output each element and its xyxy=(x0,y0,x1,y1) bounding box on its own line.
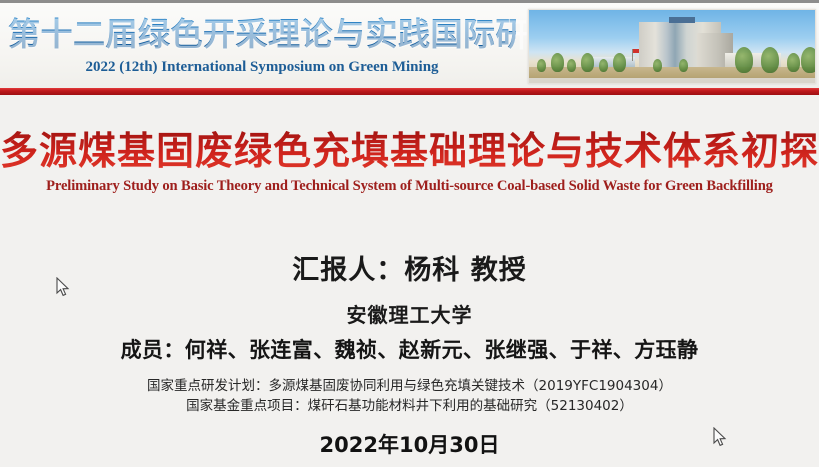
funding-block: 国家重点研发计划：多源煤基固废协同利用与绿色充填关键技术（2019YFC1904… xyxy=(0,376,819,416)
conference-header-text-block: 第十二届绿色开采理论与实践国际研讨会 2022 (12th) Internati… xyxy=(0,3,520,91)
slide-body: 多源煤基固废绿色充填基础理论与技术体系初探 Preliminary Study … xyxy=(0,95,819,467)
photo-tree xyxy=(761,47,779,73)
campus-banner-photo xyxy=(528,9,816,84)
conference-header-banner: 第十二届绿色开采理论与实践国际研讨会 2022 (12th) Internati… xyxy=(0,3,819,93)
photo-tree xyxy=(653,59,662,72)
photo-tree xyxy=(613,53,626,72)
conference-title-chinese: 第十二届绿色开采理论与实践国际研讨会 xyxy=(8,15,516,53)
photo-tree xyxy=(581,53,594,72)
header-red-divider xyxy=(0,88,819,95)
photo-tree xyxy=(735,47,753,73)
photo-tree xyxy=(567,59,576,72)
photo-tree xyxy=(801,47,816,73)
presentation-slide: 第十二届绿色开采理论与实践国际研讨会 2022 (12th) Internati… xyxy=(0,0,819,467)
presenter-line: 汇报人：杨科 教授 xyxy=(0,248,819,287)
photo-tree xyxy=(537,59,546,72)
team-members-line: 成员：何祥、张连富、魏祯、赵新元、张继强、于祥、方珏静 xyxy=(0,334,819,364)
conference-title-english: 2022 (12th) International Symposium on G… xyxy=(8,59,516,76)
photo-road xyxy=(529,78,815,83)
affiliation-line: 安徽理工大学 xyxy=(0,299,819,328)
slide-title-chinese: 多源煤基固废绿色充填基础理论与技术体系初探 xyxy=(0,128,819,174)
slide-title-english: Preliminary Study on Basic Theory and Te… xyxy=(0,178,819,195)
presentation-date: 2022年10月30日 xyxy=(0,429,819,459)
photo-tree xyxy=(679,59,688,72)
photo-tree xyxy=(787,53,800,72)
photo-tree xyxy=(551,53,564,72)
funding-line-national-key-rd: 国家重点研发计划：多源煤基固废协同利用与绿色充填关键技术（2019YFC1904… xyxy=(0,376,819,396)
photo-tree xyxy=(599,59,608,72)
funding-line-nsfc-key-project: 国家基金重点项目：煤矸石基功能材料井下利用的基础研究（52130402） xyxy=(0,396,819,416)
photo-flagpole xyxy=(632,49,633,61)
